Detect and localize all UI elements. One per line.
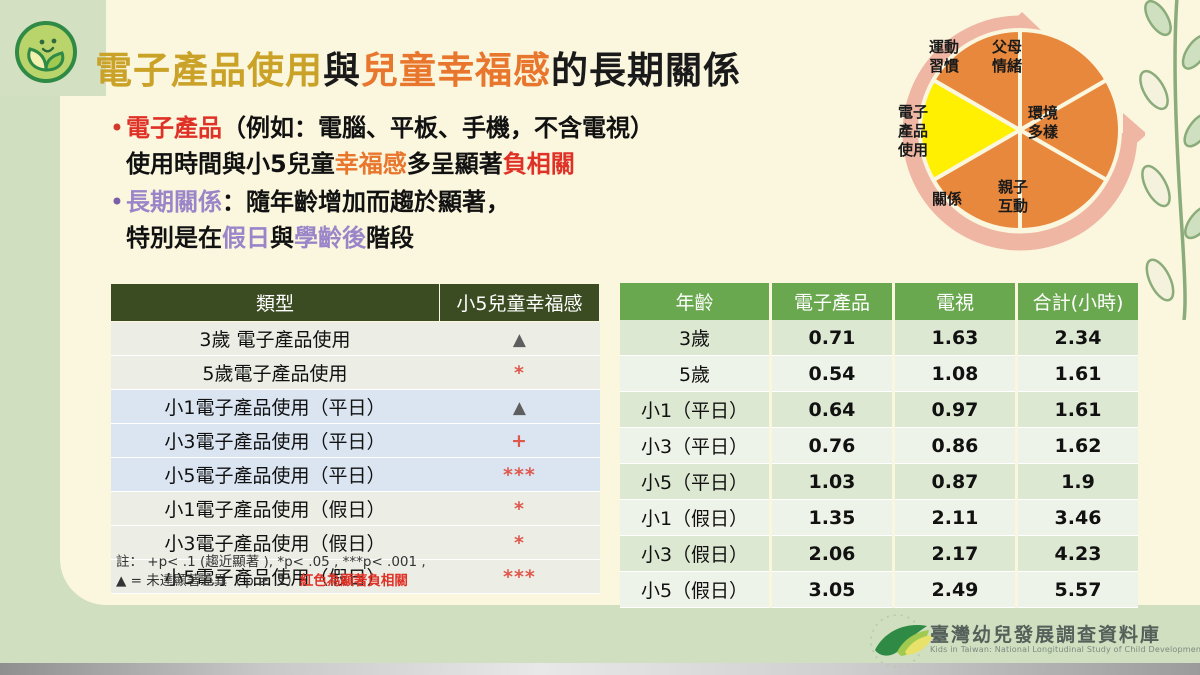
cell-age: 5歲 — [620, 356, 770, 392]
footnote-line-2-b: 紅色為顯著負相關 — [300, 573, 408, 589]
wheel-label-parent-emotion: 父母 情緒 — [992, 38, 1022, 76]
col-header-tv: 電視 — [893, 283, 1016, 320]
cell-result: * — [439, 492, 599, 526]
cell-age: 小3（平日） — [620, 428, 770, 464]
bullet-1-line2-c: 多呈顯著 — [407, 150, 503, 178]
table-row: 小3（平日）0.760.861.62 — [620, 428, 1138, 464]
bullet-1-line1-b: （例如：電腦、平板、手機，不含電視） — [222, 114, 654, 142]
cell-device: 0.76 — [770, 428, 893, 464]
table-row: 5歲0.541.081.61 — [620, 356, 1138, 392]
cell-total: 2.34 — [1016, 320, 1138, 356]
cell-tv: 0.97 — [893, 392, 1016, 428]
table-row: 3歲 電子產品使用▲ — [111, 322, 600, 356]
cell-tv: 1.08 — [893, 356, 1016, 392]
footnote-line-2-a: ▲ = 未達顯著差異（ p ≥ .1） — [116, 573, 300, 589]
wheel-label-relationship: 關係 — [932, 190, 962, 209]
cell-device: 0.71 — [770, 320, 893, 356]
footnote-line-2: ▲ = 未達顯著差異（ p ≥ .1）紅色為顯著負相關 — [116, 572, 586, 591]
wheel-label-l2: 習慣 — [929, 57, 959, 75]
wheel-label-l1: 電子 — [898, 103, 928, 121]
bullet-2-line1-b: ：隨年齡增加而趨於顯著， — [222, 188, 510, 216]
wheel-label-parent-child: 親子 互動 — [998, 178, 1028, 216]
cell-device: 2.06 — [770, 536, 893, 572]
bullet-item-2: • 長期關係：隨年齡增加而趨於顯著， 特別是在假日與學齡後階段 — [108, 184, 828, 256]
footnote-line-1: 註： +p< .1 (趨近顯著 ), *p< .05 , ***p< .001 … — [116, 553, 586, 572]
cell-result: ▲ — [439, 322, 599, 356]
table-row: 小1電子產品使用（假日）* — [111, 492, 600, 526]
col-header-device: 電子產品 — [770, 283, 893, 320]
col-header-total: 合計(小時) — [1016, 283, 1138, 320]
slide-canvas: 電子產品使用與兒童幸福感的長期關係 • 電子產品（例如：電腦、平板、手機，不含電… — [0, 0, 1200, 675]
cell-result: * — [439, 356, 599, 390]
cell-age: 小5（假日） — [620, 572, 770, 608]
bullet-list: • 電子產品（例如：電腦、平板、手機，不含電視） 使用時間與小5兒童幸福感多呈顯… — [108, 110, 828, 258]
cell-device: 0.54 — [770, 356, 893, 392]
cell-total: 3.46 — [1016, 500, 1138, 536]
wheel-label-l1: 運動 — [929, 38, 959, 56]
wheel-label-l1: 環境 — [1028, 104, 1058, 122]
cell-total: 1.61 — [1016, 356, 1138, 392]
col-header-result: 小5兒童幸福感 — [439, 284, 599, 322]
cell-tv: 2.49 — [893, 572, 1016, 608]
cell-result: *** — [439, 458, 599, 492]
wheel-label-l2: 產品 — [898, 122, 928, 140]
wheel-label-l2: 情緒 — [992, 57, 1022, 75]
wheel-label-l2: 多樣 — [1028, 123, 1058, 141]
cell-tv: 1.63 — [893, 320, 1016, 356]
table-row: 5歲電子產品使用* — [111, 356, 600, 390]
col-header-type: 類型 — [111, 284, 440, 322]
bullet-item-1: • 電子產品（例如：電腦、平板、手機，不含電視） 使用時間與小5兒童幸福感多呈顯… — [108, 110, 828, 182]
bullet-1-text: 電子產品（例如：電腦、平板、手機，不含電視） 使用時間與小5兒童幸福感多呈顯著負… — [126, 110, 654, 182]
cell-type: 小1電子產品使用（平日） — [111, 390, 440, 424]
bullet-marker-icon: • — [108, 110, 126, 146]
wheel-label-l2: 互動 — [998, 197, 1028, 215]
significance-table: 類型 小5兒童幸福感 3歲 電子產品使用▲5歲電子產品使用*小1電子產品使用（平… — [110, 283, 600, 594]
table-row: 小3（假日）2.062.174.23 — [620, 536, 1138, 572]
wheel-label-electronic-use: 電子 產品 使用 — [898, 103, 928, 160]
cell-total: 5.57 — [1016, 572, 1138, 608]
wheel-label-environment: 環境 多樣 — [1028, 104, 1058, 142]
table-row: 小5（平日）1.030.871.9 — [620, 464, 1138, 500]
table-row: 小3電子產品使用（平日）+ — [111, 424, 600, 458]
cell-type: 小3電子產品使用（平日） — [111, 424, 440, 458]
cell-type: 5歲電子產品使用 — [111, 356, 440, 390]
table-row: 小1（平日）0.640.971.61 — [620, 392, 1138, 428]
cell-device: 3.05 — [770, 572, 893, 608]
bullet-1-line2-d: 負相關 — [503, 150, 575, 178]
cell-age: 小1（平日） — [620, 392, 770, 428]
table-footnote: 註： +p< .1 (趨近顯著 ), *p< .05 , ***p< .001 … — [116, 553, 586, 591]
wheel-label-l1: 關係 — [932, 190, 962, 208]
bullet-2-text: 長期關係：隨年齡增加而趨於顯著， 特別是在假日與學齡後階段 — [126, 184, 510, 256]
cell-type: 3歲 電子產品使用 — [111, 322, 440, 356]
table-row: 小5（假日）3.052.495.57 — [620, 572, 1138, 608]
col-header-age: 年齡 — [620, 283, 770, 320]
usage-hours-table: 年齡 電子產品 電視 合計(小時) 3歲0.711.632.345歲0.541.… — [620, 283, 1138, 608]
table-row: 小1（假日）1.352.113.46 — [620, 500, 1138, 536]
bullet-1-line2-b: 幸福感 — [335, 150, 407, 178]
cell-total: 4.23 — [1016, 536, 1138, 572]
title-part-2: 與 — [323, 49, 361, 92]
bullet-1-line1-a: 電子產品 — [126, 114, 222, 142]
footer-logo-title: 臺灣幼兒發展調查資料庫 — [930, 620, 1161, 647]
table-row: 小5電子產品使用（平日）*** — [111, 458, 600, 492]
cell-total: 1.61 — [1016, 392, 1138, 428]
wheel-label-l1: 父母 — [992, 38, 1022, 56]
cell-tv: 2.11 — [893, 500, 1016, 536]
cell-tv: 0.87 — [893, 464, 1016, 500]
table-header-row: 類型 小5兒童幸福感 — [111, 284, 600, 322]
bullet-2-line2-e: 階段 — [366, 224, 414, 252]
table-row: 3歲0.711.632.34 — [620, 320, 1138, 356]
bullet-2-line1-a: 長期關係 — [126, 188, 222, 216]
cell-device: 1.35 — [770, 500, 893, 536]
table-row: 小1電子產品使用（平日）▲ — [111, 390, 600, 424]
title-part-1: 電子產品使用 — [95, 49, 323, 92]
cell-age: 小5（平日） — [620, 464, 770, 500]
title-part-3: 兒童幸福感 — [361, 49, 551, 92]
cell-result: ▲ — [439, 390, 599, 424]
cell-result: + — [439, 424, 599, 458]
cell-age: 小1（假日） — [620, 500, 770, 536]
cell-tv: 2.17 — [893, 536, 1016, 572]
cell-type: 小5電子產品使用（平日） — [111, 458, 440, 492]
bullet-2-line2-b: 假日 — [222, 224, 270, 252]
cell-device: 0.64 — [770, 392, 893, 428]
bullet-2-line2-c: 與 — [270, 224, 294, 252]
page-title: 電子產品使用與兒童幸福感的長期關係 — [95, 40, 741, 94]
bullet-marker-icon-2: • — [108, 184, 126, 220]
bullet-1-line2-a: 使用時間與小5兒童 — [126, 150, 335, 178]
cell-device: 1.03 — [770, 464, 893, 500]
cell-tv: 0.86 — [893, 428, 1016, 464]
usage-table-header-row: 年齡 電子產品 電視 合計(小時) — [620, 283, 1138, 320]
cell-total: 1.62 — [1016, 428, 1138, 464]
cell-age: 3歲 — [620, 320, 770, 356]
wheel-label-l1: 親子 — [998, 178, 1028, 196]
cell-type: 小1電子產品使用（假日） — [111, 492, 440, 526]
sprout-smiley-logo-icon — [12, 18, 80, 86]
bullet-2-line2-d: 學齡後 — [294, 224, 366, 252]
wheel-label-exercise: 運動 習慣 — [929, 38, 959, 76]
title-part-4: 的長期關係 — [551, 49, 741, 92]
cell-age: 小3（假日） — [620, 536, 770, 572]
bullet-2-line2-a: 特別是在 — [126, 224, 222, 252]
footer-logo-subtitle: Kids in Taiwan: National Longitudinal St… — [930, 645, 1200, 654]
wheel-label-l3: 使用 — [898, 141, 928, 159]
cell-total: 1.9 — [1016, 464, 1138, 500]
